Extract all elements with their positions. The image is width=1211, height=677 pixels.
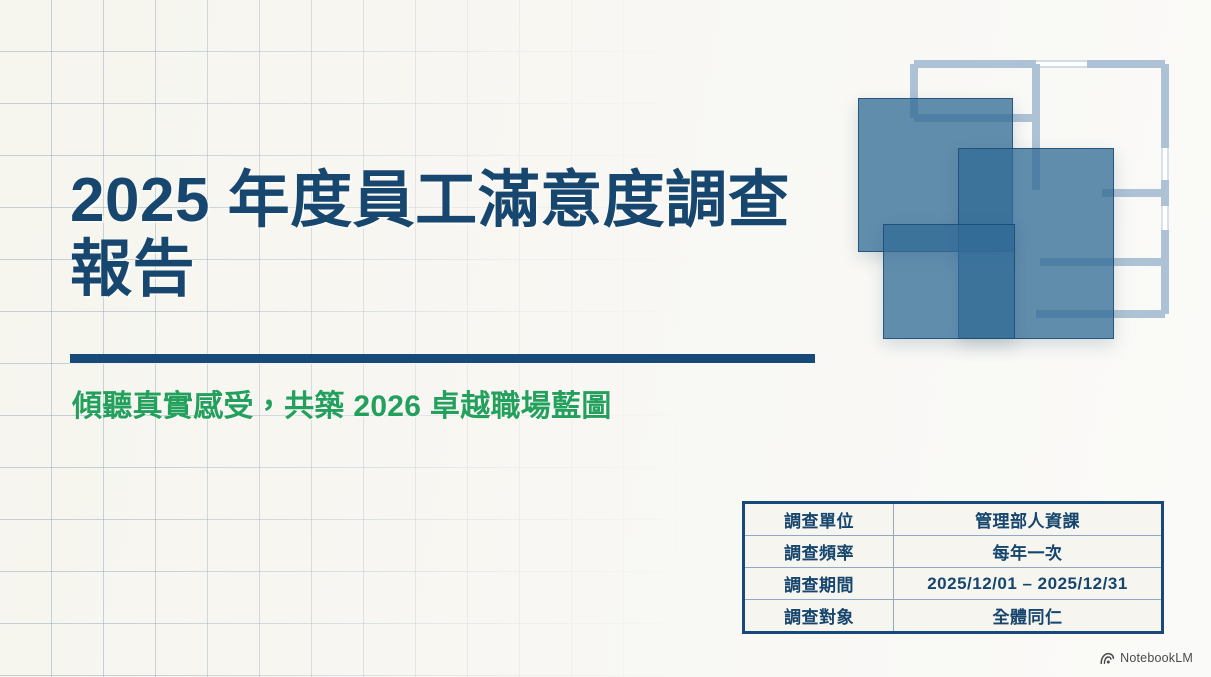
table-cell-value: 2025/12/01 – 2025/12/31 [894, 568, 1163, 600]
survey-info-table-body: 調查單位 管理部人資課 調查頻率 每年一次 調查期間 2025/12/01 – … [744, 503, 1163, 633]
table-cell-value: 全體同仁 [894, 600, 1163, 633]
slide-subtitle: 傾聽真實感受，共築 2026 卓越職場藍圖 [72, 381, 872, 425]
survey-info-table-wrapper: 調查單位 管理部人資課 調查頻率 每年一次 調查期間 2025/12/01 – … [742, 501, 1164, 634]
slide-canvas: 2025 年度員工滿意度調查報告 傾聽真實感受，共築 2026 卓越職場藍圖 調… [0, 0, 1211, 677]
decorative-square-3 [883, 224, 1015, 339]
table-cell-key: 調查期間 [744, 568, 894, 600]
graph-paper-grid [0, 0, 860, 677]
decorative-graphic [840, 30, 1200, 380]
table-row: 調查頻率 每年一次 [744, 536, 1163, 568]
notebooklm-brand: NotebookLM [1100, 651, 1193, 665]
table-cell-key: 調查對象 [744, 600, 894, 633]
table-row: 調查期間 2025/12/01 – 2025/12/31 [744, 568, 1163, 600]
table-cell-key: 調查頻率 [744, 536, 894, 568]
table-row: 調查單位 管理部人資課 [744, 503, 1163, 536]
table-cell-key: 調查單位 [744, 503, 894, 536]
table-row: 調查對象 全體同仁 [744, 600, 1163, 633]
notebooklm-label: NotebookLM [1120, 651, 1193, 665]
title-divider-rule [70, 354, 815, 363]
table-cell-value: 每年一次 [894, 536, 1163, 568]
notebooklm-spark-icon [1100, 652, 1115, 665]
table-cell-value: 管理部人資課 [894, 503, 1163, 536]
slide-title: 2025 年度員工滿意度調查報告 [70, 166, 830, 305]
survey-info-table: 調查單位 管理部人資課 調查頻率 每年一次 調查期間 2025/12/01 – … [742, 501, 1164, 634]
